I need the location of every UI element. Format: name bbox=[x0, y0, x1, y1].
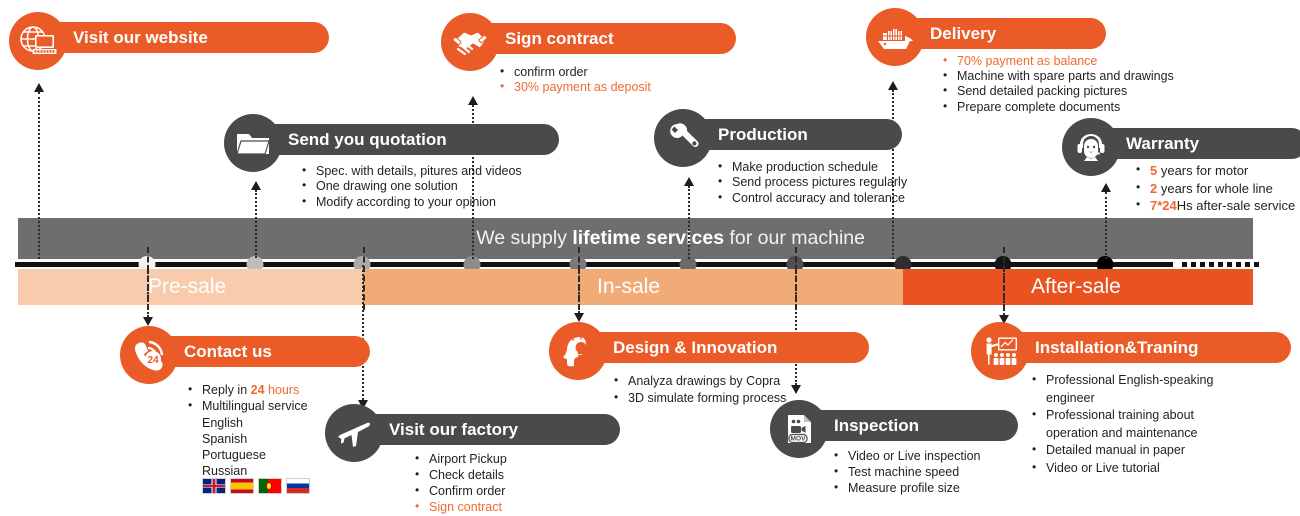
airplane-icon bbox=[325, 404, 383, 462]
node-bullets-factory: Airport Pickup Check details Confirm ord… bbox=[413, 451, 507, 515]
bullet-item: Spec. with details, pitures and videos bbox=[300, 164, 522, 179]
bullet-item: 3D simulate forming process bbox=[612, 390, 786, 407]
phase-label-pre-sale: Pre-sale bbox=[148, 269, 226, 305]
contact-reply-hours: 24 bbox=[251, 383, 265, 397]
flag-portugal-icon bbox=[258, 478, 282, 494]
flag-uk-icon bbox=[202, 478, 226, 494]
node-bullets-delivery: 70% payment as balance Machine with spar… bbox=[941, 54, 1174, 115]
flag-russia-icon bbox=[286, 478, 310, 494]
node-title-sign-contract: Sign contract bbox=[505, 29, 614, 49]
bullet-item-cont: engineer bbox=[1030, 390, 1213, 408]
node-bullets-installation: Professional English-speaking engineer P… bbox=[1030, 372, 1213, 478]
globe-computer-icon bbox=[9, 12, 67, 70]
bullet-item: 7*24Hs after-sale service bbox=[1134, 197, 1295, 215]
node-title-inspection: Inspection bbox=[834, 416, 919, 436]
connector-line-factory bbox=[362, 265, 364, 400]
banner-suffix: for our machine bbox=[724, 227, 865, 249]
bullet-item: Measure profile size bbox=[832, 480, 981, 496]
node-bullets-production: Make production schedule Send process pi… bbox=[716, 160, 907, 206]
bullet-item: Check details bbox=[413, 467, 507, 483]
phone-24h-icon: 24 bbox=[120, 326, 178, 384]
cargo-ship-icon bbox=[866, 8, 924, 66]
connector-line-quotation bbox=[255, 190, 257, 258]
node-title-design: Design & Innovation bbox=[613, 338, 777, 358]
node-title-installation: Installation&Traning bbox=[1035, 338, 1198, 358]
bullet-item: Video or Live inspection bbox=[832, 448, 981, 464]
node-title-contact: Contact us bbox=[184, 342, 272, 362]
bullet-item: 30% payment as deposit bbox=[498, 80, 651, 95]
bullet-item: 2 years for whole line bbox=[1134, 180, 1295, 198]
lightbulb-head-icon bbox=[549, 322, 607, 380]
language-item: Spanish bbox=[186, 431, 308, 447]
node-bullets-design: Analyza drawings by Copra 3D simulate fo… bbox=[612, 373, 786, 407]
banner-text: We supply lifetime services for our mach… bbox=[476, 218, 865, 259]
connector-arrow-production bbox=[684, 177, 694, 186]
bullet-item: 5 years for motor bbox=[1134, 162, 1295, 180]
connector-arrow-delivery bbox=[888, 81, 898, 90]
connector-line-production bbox=[688, 186, 690, 259]
bullet-item: Send process pictures regularly bbox=[716, 175, 907, 190]
connector-line-contact bbox=[147, 265, 149, 317]
language-item: English bbox=[186, 415, 308, 431]
connector-arrow-quotation bbox=[251, 181, 261, 190]
folder-icon bbox=[224, 114, 282, 172]
bullet-item: Control accuracy and tolerance bbox=[716, 191, 907, 206]
warranty-text: years for motor bbox=[1157, 163, 1248, 178]
node-title-production: Production bbox=[718, 125, 808, 145]
node-bullets-warranty: 5 years for motor 2 years for whole line… bbox=[1134, 162, 1295, 215]
node-title-website: Visit our website bbox=[73, 28, 208, 48]
node-title-quotation: Send you quotation bbox=[288, 130, 447, 150]
bullet-item: Professional training about bbox=[1030, 407, 1213, 425]
node-title-delivery: Delivery bbox=[930, 24, 996, 44]
language-item: Portuguese bbox=[186, 447, 308, 463]
lifetime-services-banner: We supply lifetime services for our mach… bbox=[18, 218, 1253, 259]
connector-line-design bbox=[578, 265, 580, 313]
handshake-icon bbox=[441, 13, 499, 71]
wrench-icon bbox=[654, 109, 712, 167]
node-pill-sign-contract[interactable]: Sign contract bbox=[461, 23, 736, 54]
connector-arrow-design bbox=[574, 313, 584, 322]
node-pill-design[interactable]: Design & Innovation bbox=[569, 332, 869, 363]
connector-arrow-inspection bbox=[791, 385, 801, 394]
axis-trailing-dots bbox=[1182, 262, 1260, 267]
bullet-item: Modify according to your opinion bbox=[300, 195, 522, 210]
warranty-number: 7*24 bbox=[1150, 198, 1177, 213]
bullet-item: Professional English-speaking bbox=[1030, 372, 1213, 390]
connector-arrow-sign-contract bbox=[468, 96, 478, 105]
language-flags bbox=[202, 478, 310, 494]
node-title-warranty: Warranty bbox=[1126, 134, 1199, 154]
bullet-item: Analyza drawings by Copra bbox=[612, 373, 786, 390]
warranty-text: Hs after-sale service bbox=[1177, 198, 1295, 213]
bullet-item: Reply in 24 hours bbox=[186, 382, 308, 398]
bullet-item: 70% payment as balance bbox=[941, 54, 1174, 69]
bullet-item: Multilingual service bbox=[186, 398, 308, 414]
node-bullets-quotation: Spec. with details, pitures and videos O… bbox=[300, 164, 522, 210]
svg-text:24: 24 bbox=[147, 355, 159, 366]
banner-prefix: We supply bbox=[476, 227, 572, 249]
connector-line-inspection bbox=[795, 265, 797, 385]
connector-arrow-website bbox=[34, 83, 44, 92]
bullet-item: Video or Live tutorial bbox=[1030, 460, 1213, 478]
banner-bold: lifetime services bbox=[572, 227, 724, 249]
bullet-item: Airport Pickup bbox=[413, 451, 507, 467]
bullet-item-cont: operation and maintenance bbox=[1030, 425, 1213, 443]
bullet-item: Confirm order bbox=[413, 483, 507, 499]
bullet-item: Make production schedule bbox=[716, 160, 907, 175]
phase-label-in-sale: In-sale bbox=[597, 269, 660, 305]
connector-line-installation bbox=[1003, 265, 1005, 315]
node-bullets-sign-contract: confirm order 30% payment as deposit bbox=[498, 65, 651, 96]
bullet-item: One drawing one solution bbox=[300, 179, 522, 194]
bullet-item: Detailed manual in paper bbox=[1030, 442, 1213, 460]
node-title-factory: Visit our factory bbox=[389, 420, 518, 440]
node-pill-quotation[interactable]: Send you quotation bbox=[244, 124, 559, 155]
headset-support-icon bbox=[1062, 118, 1120, 176]
connector-line-website bbox=[38, 92, 40, 259]
flag-spain-icon bbox=[230, 478, 254, 494]
node-pill-website[interactable]: Visit our website bbox=[29, 22, 329, 53]
video-file-mov-icon: MOV bbox=[770, 400, 828, 458]
bullet-item: Machine with spare parts and drawings bbox=[941, 69, 1174, 84]
bullet-item: Send detailed packing pictures bbox=[941, 84, 1174, 99]
bullet-item: Test machine speed bbox=[832, 464, 981, 480]
node-pill-installation[interactable]: Installation&Traning bbox=[991, 332, 1291, 363]
connector-arrow-contact bbox=[143, 317, 153, 326]
service-timeline-infographic: We supply lifetime services for our mach… bbox=[0, 0, 1300, 516]
bullet-item: confirm order bbox=[498, 65, 651, 80]
phase-label-after-sale: After-sale bbox=[1031, 269, 1121, 305]
contact-reply-pre: Reply in bbox=[202, 383, 251, 397]
node-bullets-contact: Reply in 24 hours Multilingual service E… bbox=[186, 382, 308, 480]
axis-stub bbox=[15, 262, 41, 267]
contact-reply-post: hours bbox=[265, 383, 300, 397]
node-bullets-inspection: Video or Live inspection Test machine sp… bbox=[832, 448, 981, 497]
bullet-item: Prepare complete documents bbox=[941, 100, 1174, 115]
warranty-text: years for whole line bbox=[1157, 181, 1273, 196]
mov-label: MOV bbox=[790, 436, 806, 443]
connector-arrow-warranty bbox=[1101, 183, 1111, 192]
bullet-item: Sign contract bbox=[413, 499, 507, 515]
connector-line-warranty bbox=[1105, 192, 1107, 259]
training-board-icon bbox=[971, 322, 1029, 380]
node-pill-factory[interactable]: Visit our factory bbox=[345, 414, 620, 445]
